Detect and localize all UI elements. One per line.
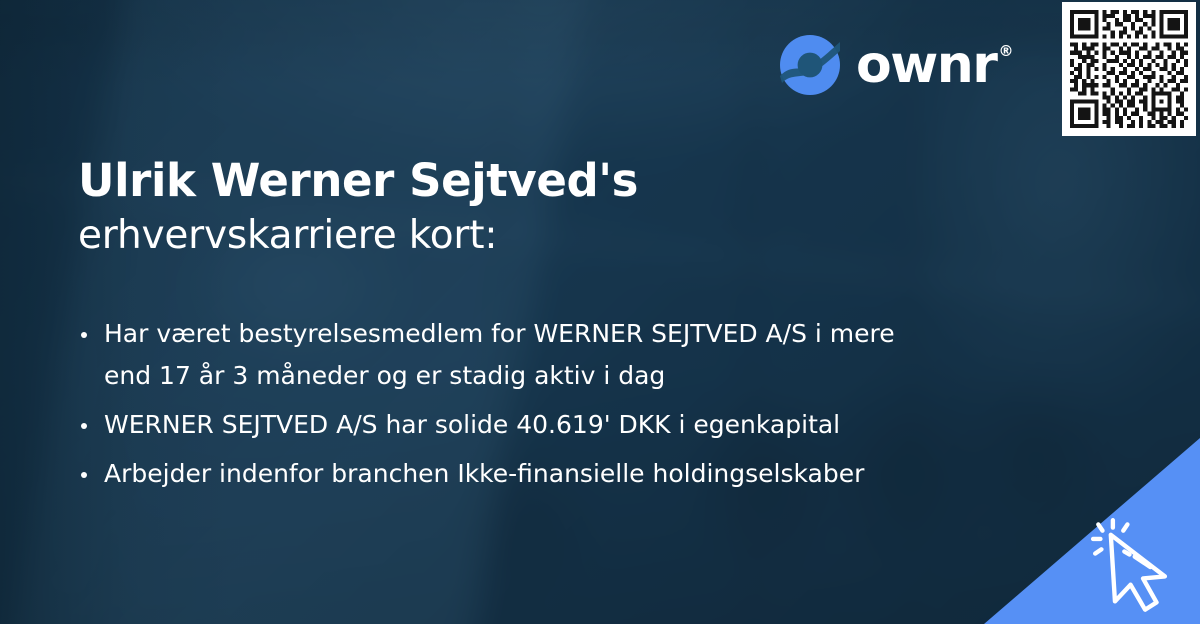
registered-trademark-icon: ® bbox=[998, 44, 1012, 59]
list-item-label: Arbejder indenfor branchen Ikke-finansie… bbox=[104, 459, 864, 488]
list-item: Arbejder indenfor branchen Ikke-finansie… bbox=[80, 453, 910, 495]
ownr-circle-swirl-icon bbox=[778, 33, 842, 97]
list-item: WERNER SEJTVED A/S har solide 40.619' DK… bbox=[80, 404, 910, 446]
bullet-dot-icon bbox=[81, 423, 87, 429]
click-cursor-icon bbox=[1090, 514, 1194, 618]
page-title-name: Ulrik Werner Sejtved's bbox=[78, 152, 858, 210]
bullet-dot-icon bbox=[81, 332, 87, 338]
page-title: Ulrik Werner Sejtved's erhvervskarriere … bbox=[78, 152, 858, 262]
list-item-label: Har været bestyrelsesmedlem for WERNER S… bbox=[104, 319, 895, 390]
list-item-label: WERNER SEJTVED A/S har solide 40.619' DK… bbox=[104, 410, 840, 439]
list-item: Har været bestyrelsesmedlem for WERNER S… bbox=[80, 313, 910, 397]
bullet-dot-icon bbox=[81, 472, 87, 478]
ownr-wordmark: ownr ® bbox=[856, 39, 1012, 91]
page-title-subtitle: erhvervskarriere kort: bbox=[78, 210, 858, 262]
career-card: ownr ® bbox=[0, 0, 1200, 624]
ownr-wordmark-text: ownr bbox=[856, 39, 996, 91]
background-vignette bbox=[0, 0, 1200, 624]
career-facts-list: Har været bestyrelsesmedlem for WERNER S… bbox=[80, 313, 980, 502]
ownr-logo[interactable]: ownr ® bbox=[778, 33, 1012, 97]
qr-code[interactable] bbox=[1062, 2, 1196, 136]
